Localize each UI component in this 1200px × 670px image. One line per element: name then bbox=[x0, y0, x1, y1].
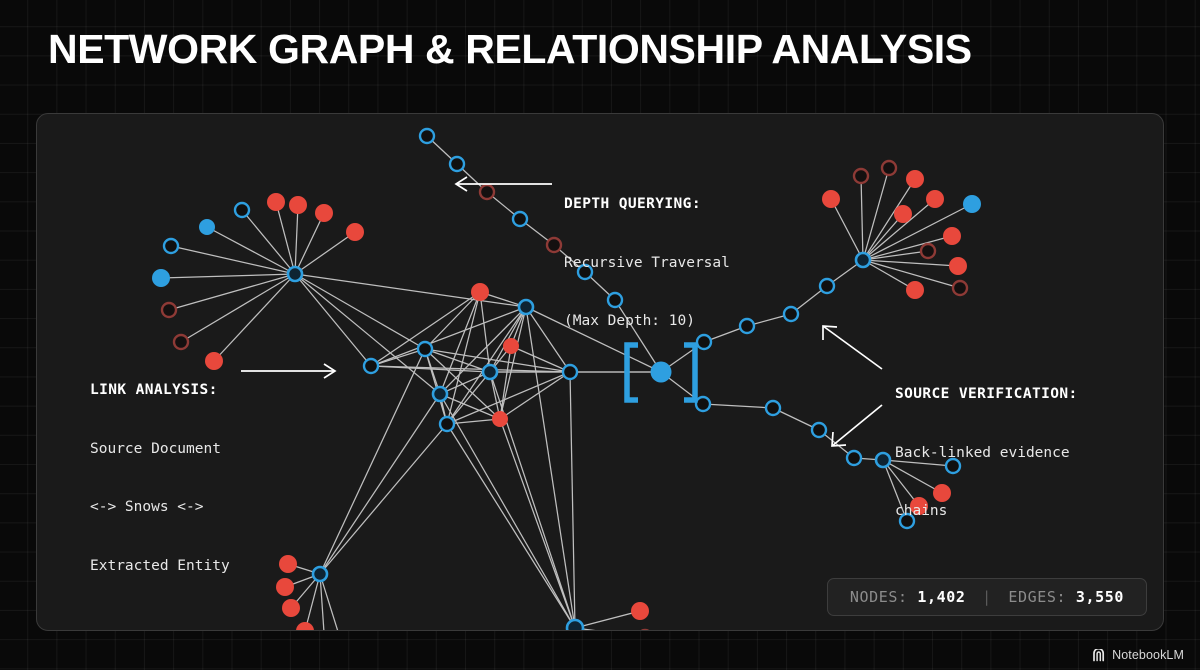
graph-edge bbox=[575, 611, 640, 628]
graph-edge bbox=[480, 292, 490, 372]
graph-edge bbox=[320, 349, 425, 574]
graph-node[interactable] bbox=[471, 283, 489, 301]
graph-node[interactable] bbox=[547, 238, 561, 252]
graph-edge bbox=[440, 394, 575, 628]
stats-separator: | bbox=[975, 588, 999, 606]
graph-edge bbox=[500, 372, 570, 419]
graph-node[interactable] bbox=[513, 212, 527, 226]
graph-node[interactable] bbox=[963, 195, 981, 213]
graph-node[interactable] bbox=[433, 387, 447, 401]
graph-edge bbox=[320, 424, 447, 574]
graph-node[interactable] bbox=[288, 267, 302, 281]
graph-node[interactable] bbox=[894, 205, 912, 223]
graph-edge bbox=[863, 260, 958, 266]
source-arrow-up-icon bbox=[823, 326, 882, 369]
graph-node[interactable] bbox=[162, 303, 176, 317]
brand-label: NotebookLM bbox=[1112, 648, 1184, 662]
graph-node[interactable] bbox=[440, 417, 454, 431]
graph-node[interactable] bbox=[276, 578, 294, 596]
link-arrow-icon bbox=[241, 364, 335, 378]
graph-node[interactable] bbox=[696, 397, 710, 411]
graph-edge bbox=[447, 424, 575, 628]
graph-edge bbox=[863, 168, 889, 260]
annotation-source-line1: Back-linked evidence bbox=[895, 444, 1078, 464]
graph-node[interactable] bbox=[296, 622, 314, 631]
graph-edge bbox=[171, 246, 295, 274]
graph-edge bbox=[371, 349, 425, 366]
graph-edge bbox=[295, 205, 298, 274]
depth-arrow-icon bbox=[456, 177, 552, 191]
graph-node[interactable] bbox=[313, 567, 327, 581]
nodes-label: NODES: bbox=[850, 588, 908, 606]
annotation-depth-line2: (Max Depth: 10) bbox=[564, 312, 730, 332]
brand-notebooklm: NotebookLM bbox=[1092, 648, 1184, 662]
graph-node[interactable] bbox=[364, 359, 378, 373]
graph-node[interactable] bbox=[638, 630, 652, 631]
graph-edge bbox=[831, 199, 863, 260]
graph-node[interactable] bbox=[812, 423, 826, 437]
graph-edge bbox=[570, 372, 575, 628]
graph-edge bbox=[861, 176, 863, 260]
annotation-source-title: SOURCE VERIFICATION: bbox=[895, 385, 1078, 405]
graph-node[interactable] bbox=[418, 342, 432, 356]
annotation-link-line2: <-> Snows <-> bbox=[90, 498, 230, 518]
graph-node[interactable] bbox=[289, 196, 307, 214]
graph-node[interactable] bbox=[921, 244, 935, 258]
graph-edge bbox=[207, 227, 295, 274]
annotation-depth-title: DEPTH QUERYING: bbox=[564, 195, 730, 215]
graph-stats-badge: NODES: 1,402 | EDGES: 3,550 bbox=[827, 578, 1147, 616]
graph-node[interactable] bbox=[876, 453, 890, 467]
graph-edge bbox=[863, 260, 915, 290]
graph-node[interactable] bbox=[953, 281, 967, 295]
graph-node[interactable] bbox=[282, 599, 300, 617]
graph-node[interactable] bbox=[820, 279, 834, 293]
nodes-value: 1,402 bbox=[917, 588, 965, 606]
graph-node[interactable] bbox=[856, 253, 870, 267]
graph-node[interactable] bbox=[483, 365, 497, 379]
page-title: NETWORK GRAPH & RELATIONSHIP ANALYSIS bbox=[48, 26, 972, 73]
notebooklm-spiral-icon bbox=[1092, 649, 1107, 662]
graph-node[interactable] bbox=[766, 401, 780, 415]
annotation-link-line1: Source Document bbox=[90, 440, 230, 460]
graph-node[interactable] bbox=[235, 203, 249, 217]
graph-node[interactable] bbox=[906, 170, 924, 188]
graph-node[interactable] bbox=[480, 185, 494, 199]
graph-node[interactable] bbox=[854, 169, 868, 183]
graph-edge bbox=[499, 628, 575, 631]
graph-node[interactable] bbox=[315, 204, 333, 222]
annotation-link-title: LINK ANALYSIS: bbox=[90, 381, 230, 401]
graph-edge bbox=[295, 274, 371, 366]
graph-edge bbox=[295, 213, 324, 274]
annotation-depth-querying: DEPTH QUERYING: Recursive Traversal (Max… bbox=[564, 156, 730, 371]
graph-node[interactable] bbox=[503, 338, 519, 354]
graph-node[interactable] bbox=[420, 129, 434, 143]
graph-node[interactable] bbox=[631, 602, 649, 620]
edges-value: 3,550 bbox=[1076, 588, 1124, 606]
graph-edge bbox=[500, 419, 575, 628]
graph-node[interactable] bbox=[267, 193, 285, 211]
graph-node[interactable] bbox=[906, 281, 924, 299]
graph-node[interactable] bbox=[450, 157, 464, 171]
graph-edge bbox=[295, 274, 425, 349]
graph-node[interactable] bbox=[346, 223, 364, 241]
graph-edge bbox=[575, 628, 645, 631]
graph-panel: DEPTH QUERYING: Recursive Traversal (Max… bbox=[36, 113, 1164, 631]
annotation-link-analysis: LINK ANALYSIS: Source Document <-> Snows… bbox=[90, 342, 230, 615]
graph-node[interactable] bbox=[943, 227, 961, 245]
graph-edge bbox=[161, 274, 295, 278]
graph-node[interactable] bbox=[740, 319, 754, 333]
graph-node[interactable] bbox=[949, 257, 967, 275]
graph-node[interactable] bbox=[519, 300, 533, 314]
graph-edge bbox=[425, 349, 447, 424]
annotation-source-verification: SOURCE VERIFICATION: Back-linked evidenc… bbox=[895, 346, 1078, 561]
graph-node[interactable] bbox=[784, 307, 798, 321]
graph-edge bbox=[169, 274, 295, 310]
graph-node[interactable] bbox=[847, 451, 861, 465]
graph-edge bbox=[181, 274, 295, 342]
graph-node[interactable] bbox=[567, 620, 583, 631]
graph-node[interactable] bbox=[492, 411, 508, 427]
graph-node[interactable] bbox=[199, 219, 215, 235]
graph-node[interactable] bbox=[279, 555, 297, 573]
graph-edge bbox=[490, 372, 575, 628]
graph-node[interactable] bbox=[152, 269, 170, 287]
graph-node[interactable] bbox=[926, 190, 944, 208]
graph-node[interactable] bbox=[822, 190, 840, 208]
edges-label: EDGES: bbox=[1008, 588, 1066, 606]
annotation-source-line2: chains bbox=[895, 502, 1078, 522]
graph-node[interactable] bbox=[882, 161, 896, 175]
source-arrow-down-icon bbox=[832, 405, 882, 446]
graph-node[interactable] bbox=[164, 239, 178, 253]
graph-edge bbox=[295, 232, 355, 274]
graph-edge bbox=[703, 404, 773, 408]
graph-edge bbox=[320, 394, 440, 574]
graph-edge bbox=[425, 292, 480, 349]
annotation-link-line3: Extracted Entity bbox=[90, 557, 230, 577]
annotation-depth-line1: Recursive Traversal bbox=[564, 254, 730, 274]
